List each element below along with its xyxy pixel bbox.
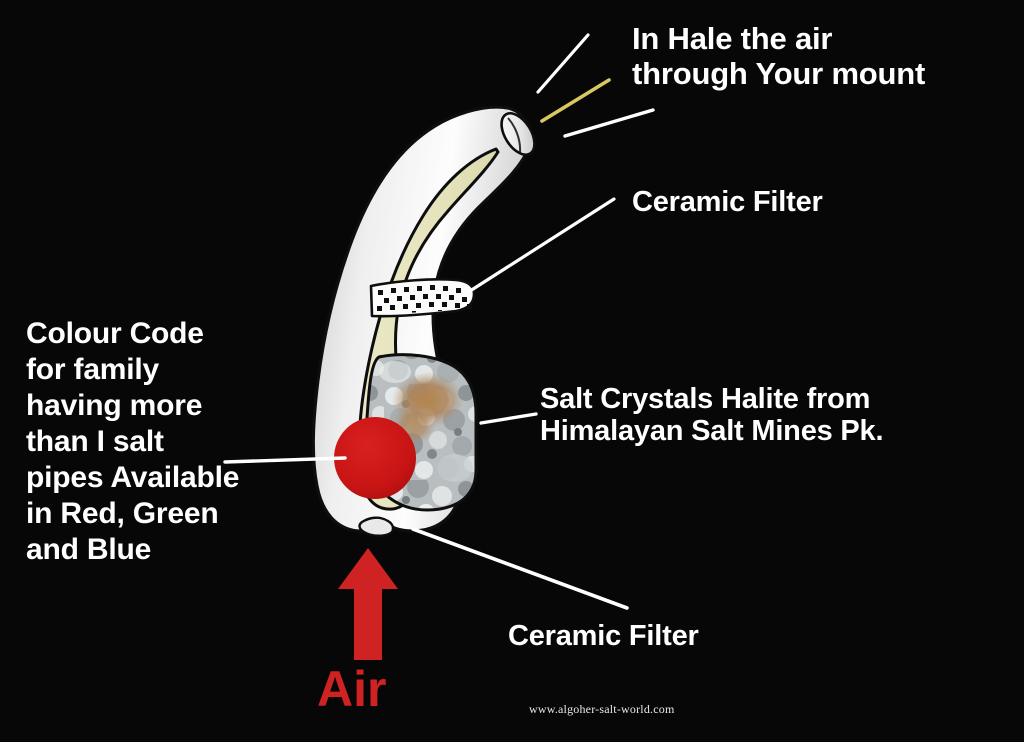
watermark-url: www.algoher-salt-world.com [529,702,674,717]
label-salt-crystals: Salt Crystals Halite from Himalayan Salt… [540,383,1010,448]
leader-ceramic-bottom-line [413,529,627,608]
salt-pipe-inhaler-body [313,107,541,536]
label-colour-code: Colour Code for family having more than … [26,316,326,568]
leader-inhale-upper-line [538,35,588,92]
leader-inhale-lower-line [565,110,653,136]
leader-inhale-yellow-line [542,80,609,121]
leader-salt-crystals-line [481,414,536,423]
label-air: Air [317,660,386,718]
ceramic-filter-lower [360,518,393,536]
label-ceramic-filter-top: Ceramic Filter [632,186,823,218]
ceramic-filter-upper [371,279,474,316]
diagram-canvas: In Hale the air through Your mount Ceram… [0,0,1024,742]
air-arrow-icon [338,548,398,660]
leader-ceramic-top-line [470,199,614,291]
label-inhale-air: In Hale the air through Your mount [632,22,1012,91]
label-ceramic-filter-bottom: Ceramic Filter [508,620,699,652]
